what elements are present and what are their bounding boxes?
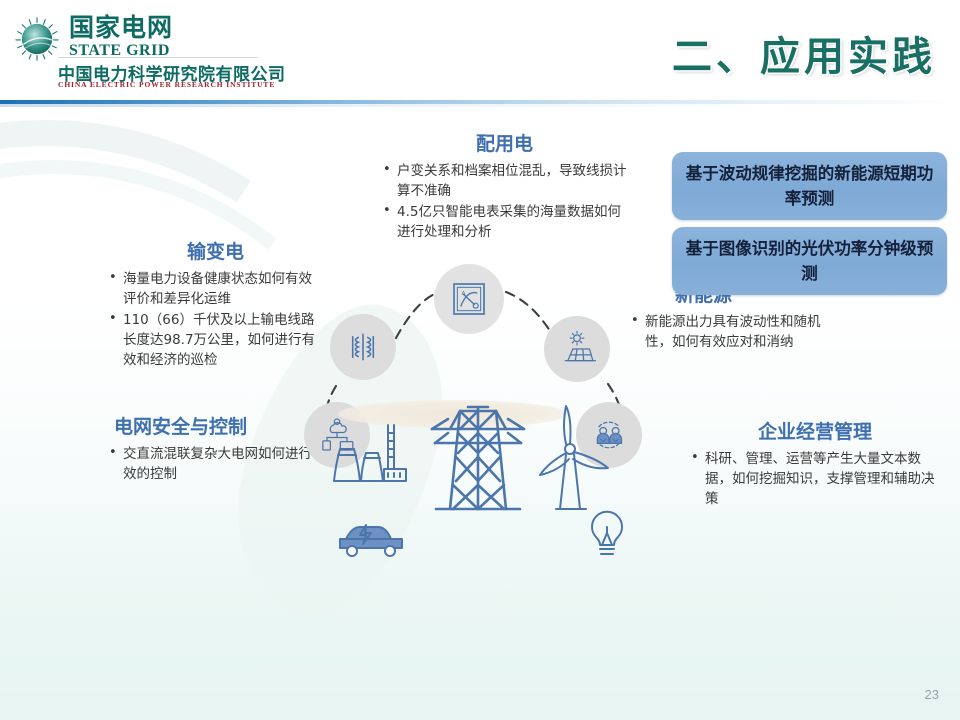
- meter-gauge-icon: A: [449, 279, 489, 319]
- svg-text:A: A: [462, 291, 466, 297]
- light-bulb-icon: [592, 512, 622, 554]
- slide-title: 二、应用实践: [672, 24, 936, 82]
- solar-panel-icon: [557, 329, 597, 369]
- state-grid-logo: 国家电网 STATE GRID: [14, 14, 173, 62]
- state-grid-globe-icon: [14, 16, 60, 62]
- block-transmission-title: 输变电: [108, 240, 323, 264]
- transmission-tower-icon: [432, 407, 524, 509]
- header-divider-shadow: [0, 104, 960, 107]
- power-plant-icon: [334, 425, 406, 481]
- node-solar-panel[interactable]: [544, 316, 610, 382]
- bullet-item: 户变关系和档案相位混乱，导致线损计算不准确: [382, 161, 627, 201]
- block-distribution: 配用电 户变关系和档案相位混乱，导致线损计算不准确 4.5亿只智能电表采集的海量…: [382, 132, 627, 243]
- central-diagram: A: [268, 262, 708, 572]
- institute-en-name: CHINA ELECTRIC POWER RESEARCH INSTITUTE: [58, 80, 275, 89]
- logo-cn-name: 国家电网: [69, 14, 173, 41]
- wind-turbine-icon: [540, 406, 608, 509]
- block-distribution-title: 配用电: [382, 132, 627, 156]
- block-distribution-bullets: 户变关系和档案相位混乱，导致线损计算不准确 4.5亿只智能电表采集的海量数据如何…: [382, 161, 627, 242]
- bullet-item: 4.5亿只智能电表采集的海量数据如何进行处理和分析: [382, 202, 627, 242]
- node-meter-gauge[interactable]: A: [434, 264, 504, 334]
- page-number: 23: [925, 687, 939, 702]
- transformer-icon: [344, 328, 382, 366]
- logo-text: 国家电网 STATE GRID: [69, 14, 173, 60]
- node-transformer[interactable]: [330, 314, 396, 380]
- institute-divider: [58, 57, 258, 58]
- block-enterprise: 企业经营管理 科研、管理、运营等产生大量文本数据，如何挖掘知识，支撑管理和辅助决…: [690, 420, 940, 510]
- bullet-item: 科研、管理、运营等产生大量文本数据，如何挖掘知识，支撑管理和辅助决策: [690, 449, 940, 509]
- block-enterprise-title: 企业经营管理: [690, 420, 940, 444]
- slide: 国家电网 STATE GRID 中国电力科学研究院有限公司 CHINA ELEC…: [0, 0, 960, 720]
- callout-box-wind-forecast[interactable]: 基于波动规律挖掘的新能源短期功率预测: [672, 152, 947, 220]
- block-enterprise-bullets: 科研、管理、运营等产生大量文本数据，如何挖掘知识，支撑管理和辅助决策: [690, 449, 940, 509]
- electric-car-icon: [340, 525, 402, 556]
- slide-header: 国家电网 STATE GRID 中国电力科学研究院有限公司 CHINA ELEC…: [0, 0, 960, 102]
- power-scene-illustration: [308, 397, 668, 572]
- callout-box-pv-forecast[interactable]: 基于图像识别的光伏功率分钟级预测: [672, 227, 947, 295]
- callout-list: 基于波动规律挖掘的新能源短期功率预测 基于图像识别的光伏功率分钟级预测: [672, 152, 947, 302]
